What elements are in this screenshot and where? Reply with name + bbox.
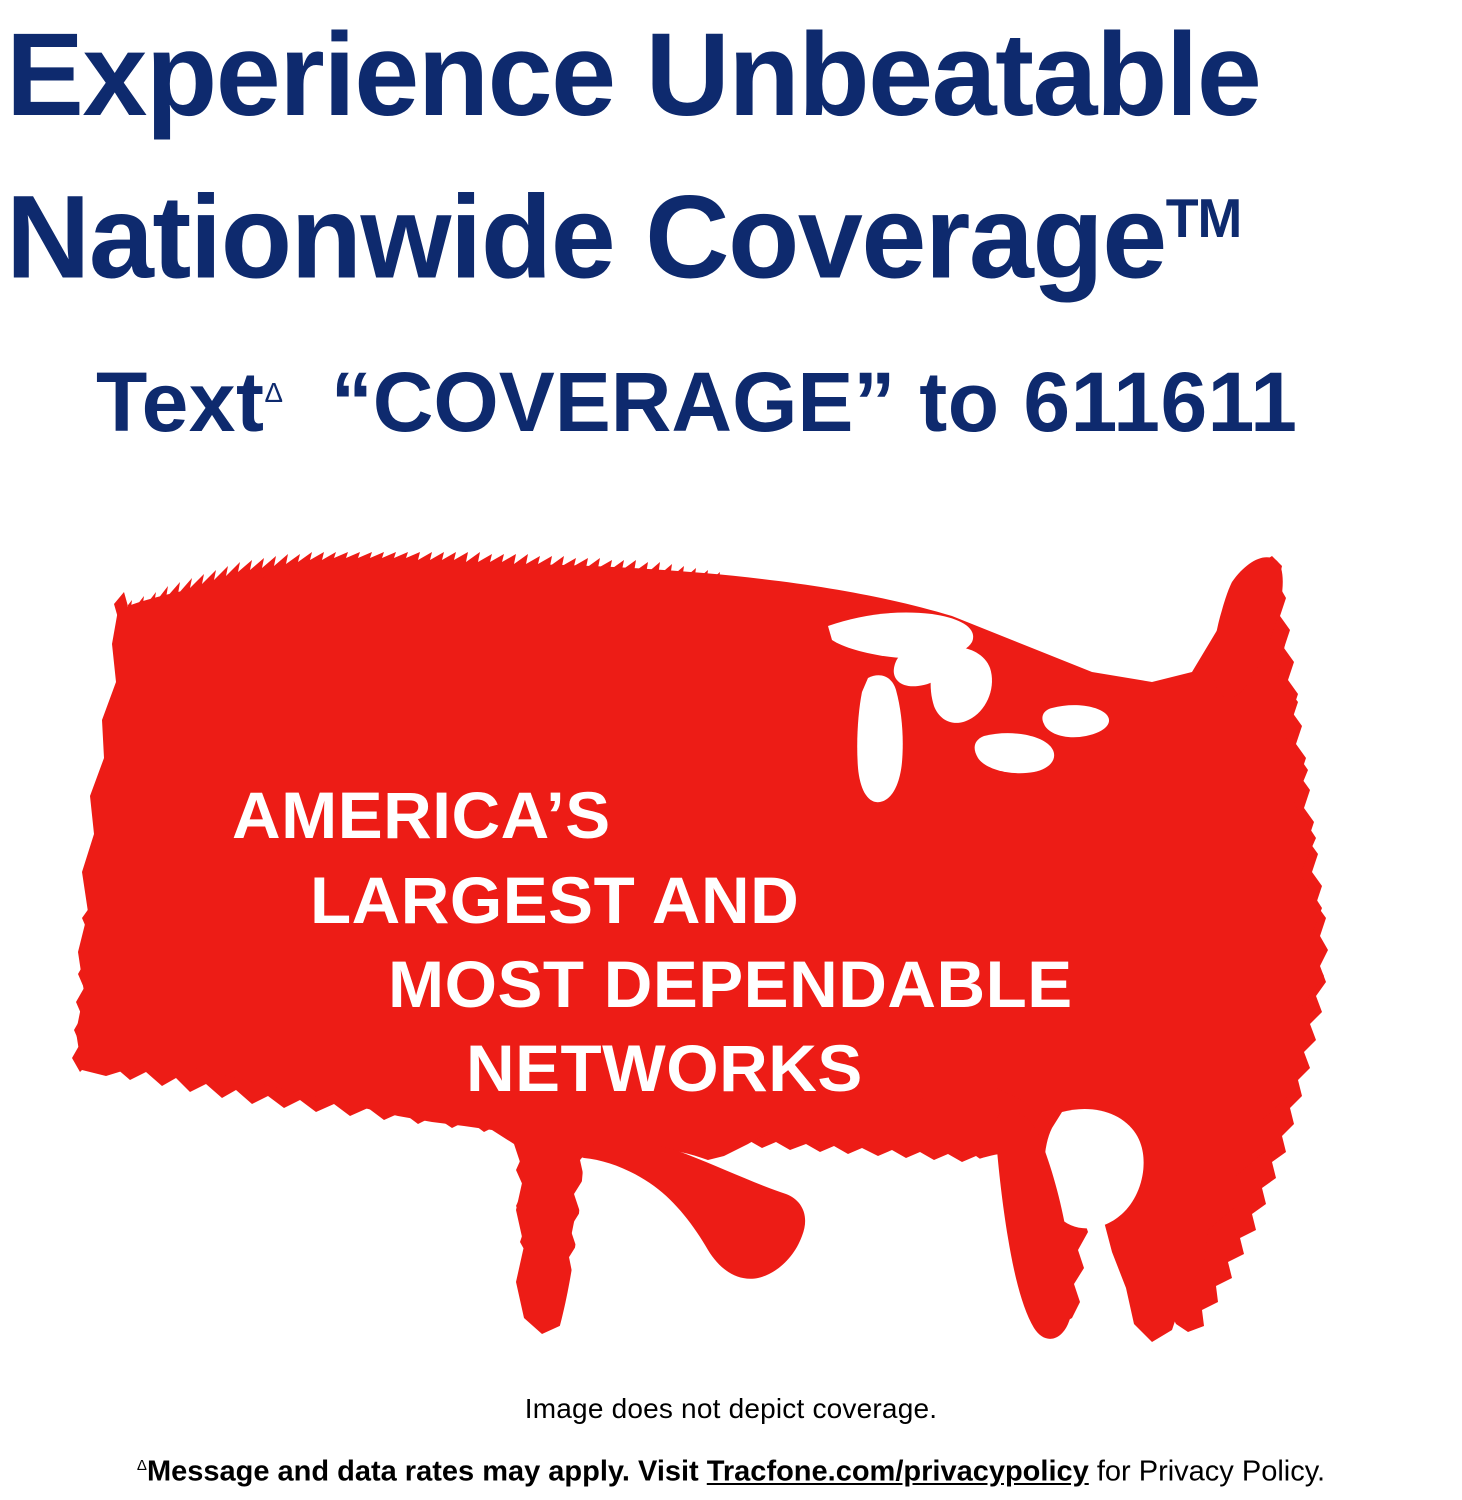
headline-line-2-text: Nationwide Coverage xyxy=(6,171,1166,303)
privacy-policy-link[interactable]: Tracfone.com/privacypolicy xyxy=(707,1456,1089,1488)
subhead-cta: TextΔ “COVERAGE” to 611611 xyxy=(96,345,1297,450)
headline-line-1: Experience Unbeatable xyxy=(6,4,1447,147)
coverage-ad-canvas: Experience Unbeatable Nationwide Coverag… xyxy=(0,0,1462,1500)
trademark-symbol: TM xyxy=(1166,188,1242,249)
headline-block: Experience Unbeatable Nationwide Coverag… xyxy=(6,4,1462,309)
legal-disclaimer: ΔMessage and data rates may apply. Visit… xyxy=(0,1448,1462,1490)
disclaimer-caption: Image does not depict coverage. xyxy=(0,1392,1462,1426)
legal-text-before: Message and data rates may apply. Visit xyxy=(147,1456,707,1488)
legal-text-after: for Privacy Policy. xyxy=(1089,1456,1325,1488)
footnote-marker-delta-icon: Δ xyxy=(264,377,283,408)
subhead-connector: to xyxy=(919,355,999,449)
subhead-prefix: Text xyxy=(96,355,264,449)
subhead-keyword: “COVERAGE” xyxy=(331,355,896,449)
us-map-silhouette xyxy=(72,552,1328,1352)
lake-michigan-cutout xyxy=(857,675,903,802)
legal-footnote-delta-icon: Δ xyxy=(137,1457,147,1474)
headline-line-2: Nationwide CoverageTM xyxy=(6,147,1447,309)
subhead-shortcode: 611611 xyxy=(1023,355,1297,449)
